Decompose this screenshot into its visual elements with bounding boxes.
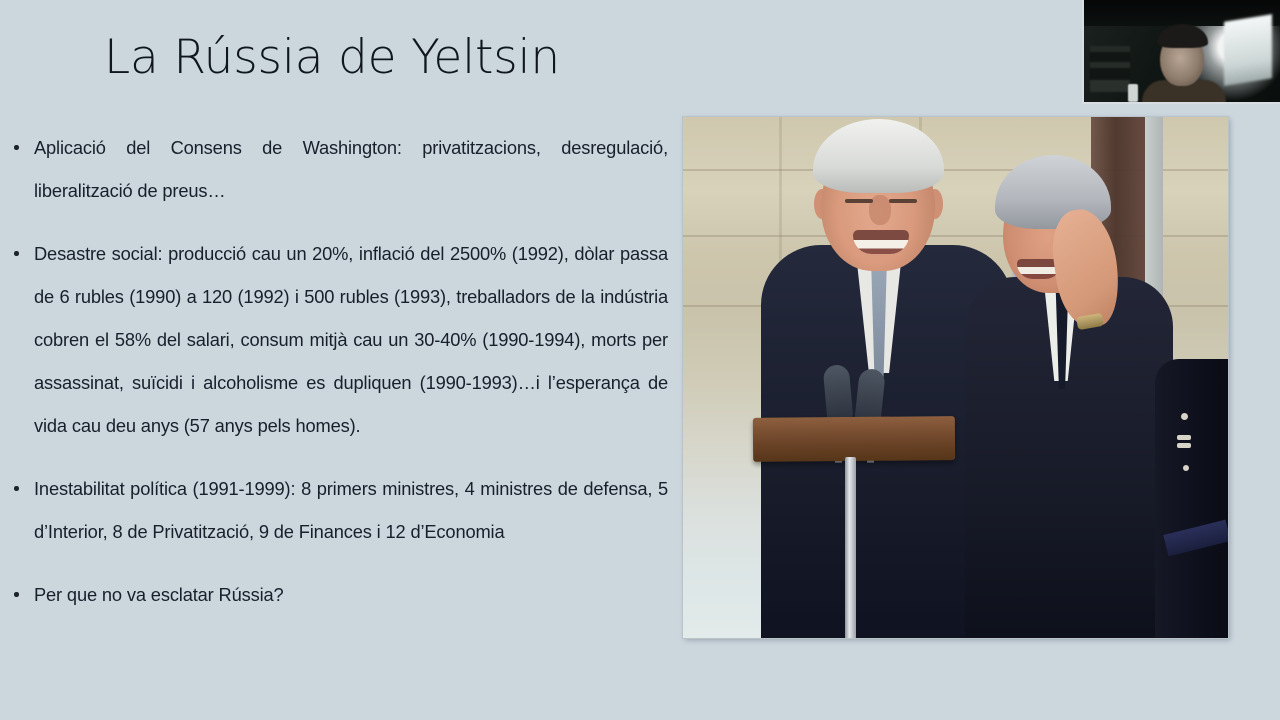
presentation-slide: La Rússia de Yeltsin Aplicació del Conse…	[0, 0, 1280, 720]
military-aide	[1155, 359, 1228, 638]
aide-medal	[1183, 465, 1189, 471]
lectern	[753, 416, 955, 462]
yeltsin-eye-left	[845, 199, 873, 203]
yeltsin-eye-right	[889, 199, 917, 203]
bullet-dot-icon	[14, 251, 19, 256]
bullet-dot-icon	[14, 145, 19, 150]
yeltsin-clinton-photo	[683, 117, 1228, 638]
bullet-dot-icon	[14, 486, 19, 491]
bullet-inestabilitat-politica: Inestabilitat política (1991-1999): 8 pr…	[8, 467, 668, 553]
aide-ribbon	[1177, 443, 1191, 448]
slide-body-list: Aplicació del Consens de Washington: pri…	[8, 126, 668, 616]
bullet-text: Desastre social: producció cau un 20%, i…	[34, 232, 668, 447]
aide-ribbon	[1177, 435, 1191, 440]
bullet-text: Aplicació del Consens de Washington: pri…	[34, 126, 668, 212]
bullet-dot-icon	[14, 592, 19, 597]
webcam-cup	[1128, 84, 1138, 102]
page-title: La Rússia de Yeltsin	[104, 30, 560, 85]
presenter-webcam[interactable]	[1082, 0, 1280, 104]
photo-image	[683, 117, 1228, 638]
webcam-person-hair	[1157, 24, 1208, 48]
bullet-text: Inestabilitat política (1991-1999): 8 pr…	[34, 467, 668, 553]
bullet-desastre-social: Desastre social: producció cau un 20%, i…	[8, 232, 668, 447]
bullet-text: Per que no va esclatar Rússia?	[34, 573, 668, 616]
bullet-pregunta-russia: Per que no va esclatar Rússia?	[8, 573, 668, 616]
yeltsin-hair	[813, 119, 944, 193]
webcam-video-feed	[1084, 0, 1280, 102]
microphone-left	[823, 364, 854, 422]
yeltsin-mouth	[853, 230, 909, 254]
microphone-stand	[845, 457, 856, 638]
bullet-consens-washington: Aplicació del Consens de Washington: pri…	[8, 126, 668, 212]
aide-medal	[1181, 413, 1188, 420]
webcam-shelf	[1090, 46, 1130, 92]
webcam-window-light	[1224, 14, 1272, 86]
